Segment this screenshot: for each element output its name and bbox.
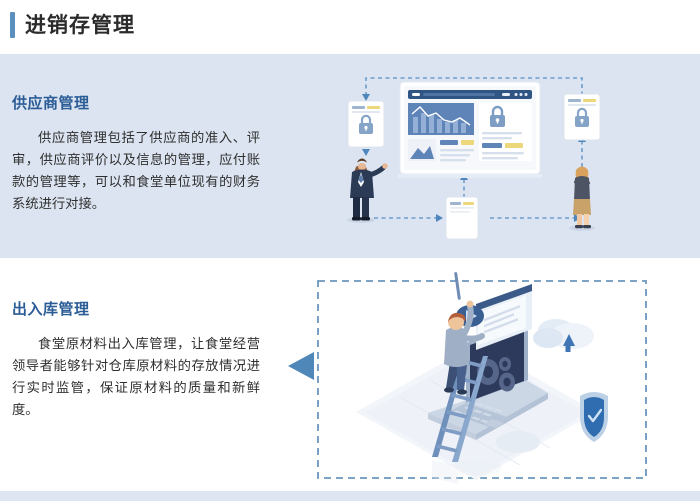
supplier-network-illustration: [330, 66, 630, 246]
secure-document-card-right: [564, 94, 600, 140]
businessman-figure: [347, 159, 388, 224]
businesswoman-figure: [569, 167, 595, 232]
section-title-inventory: 出入库管理: [12, 298, 90, 319]
header-accent-bar: [10, 12, 15, 38]
page-root: 进销存管理 供应商管理 供应商管理包括了供应商的准入、评审，供应商评价以及信息的…: [0, 0, 700, 504]
section-body-inventory: 食堂原材料出入库管理，让食堂经营领导者能够针对仓库原材料的存放情况进行实时监管，…: [12, 334, 260, 422]
warehouse-laptop-illustration: [280, 272, 660, 487]
left-pointing-triangle: [288, 352, 314, 380]
secure-document-card-left: [348, 101, 384, 147]
cloud-upload-icon: [533, 319, 594, 352]
dashboard-screen: [398, 82, 542, 178]
section-body-supplier: 供应商管理包括了供应商的准入、评审，供应商评价以及信息的管理，应付账款的管理等，…: [12, 128, 260, 216]
security-shield-icon: [580, 392, 608, 442]
page-header: 进销存管理: [0, 0, 700, 54]
reflection: [432, 460, 502, 484]
page-title: 进销存管理: [25, 9, 135, 41]
section-title-supplier: 供应商管理: [12, 92, 90, 113]
bottom-strip: [0, 491, 700, 501]
document-card-bottom: [446, 197, 478, 239]
